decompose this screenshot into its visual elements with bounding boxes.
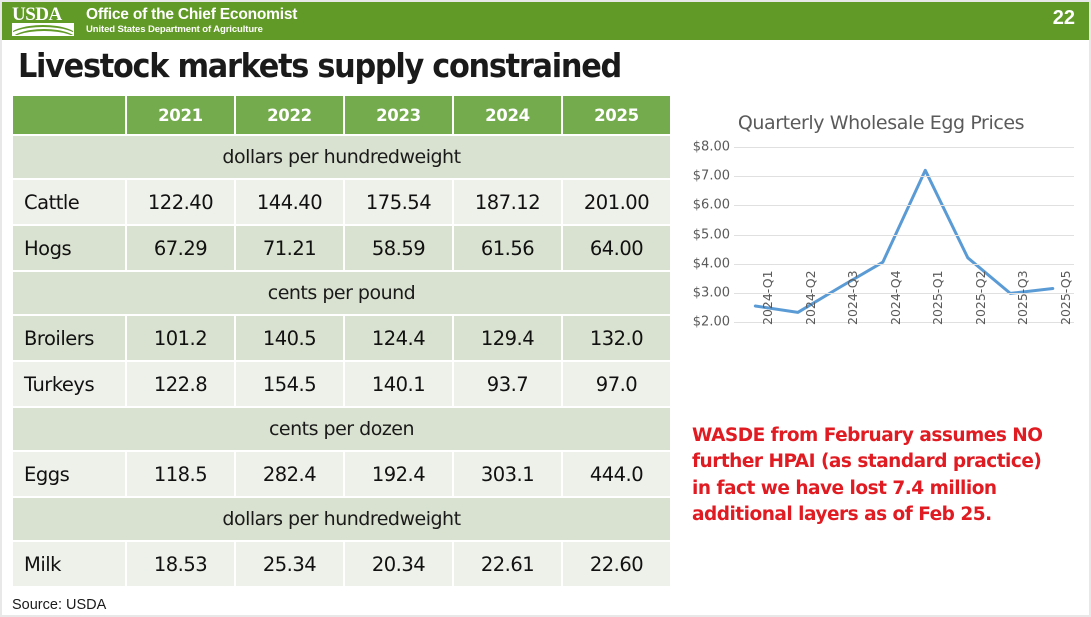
unit-label-dollars-cwt-2: dollars per hundredweight: [13, 498, 670, 540]
cell-broilers-2022: 140.5: [236, 316, 343, 360]
cell-turkeys-2023: 140.1: [345, 362, 452, 406]
y-tick-label: $5.00: [693, 227, 730, 242]
y-tick-label: $8.00: [693, 140, 730, 155]
cell-milk-2025: 22.60: [563, 542, 670, 586]
x-tick-label: 2024-Q2: [803, 270, 818, 325]
y-tick-label: $4.00: [693, 256, 730, 271]
gridline: [734, 205, 1074, 206]
row-label-turkeys: Turkeys: [13, 362, 125, 406]
unit-row: cents per dozen: [13, 408, 670, 450]
cell-milk-2023: 20.34: [345, 542, 452, 586]
chart-title: Quarterly Wholesale Egg Prices: [678, 112, 1084, 134]
y-tick-label: $7.00: [693, 169, 730, 184]
y-axis: $8.00$7.00$6.00$5.00$4.00$3.00$2.00: [678, 147, 734, 322]
cell-broilers-2023: 124.4: [345, 316, 452, 360]
plot-wrapper: $8.00$7.00$6.00$5.00$4.00$3.00$2.00 2024…: [678, 147, 1084, 322]
x-tick-label: 2024-Q3: [845, 270, 860, 325]
gridline: [734, 176, 1074, 177]
column-header-2023: 2023: [345, 96, 452, 134]
banner-text-group: Office of the Chief Economist United Sta…: [86, 7, 297, 34]
cell-milk-2021: 18.53: [127, 542, 234, 586]
cell-hogs-2022: 71.21: [236, 226, 343, 270]
egg-price-chart: Quarterly Wholesale Egg Prices $8.00$7.0…: [678, 102, 1084, 402]
cell-hogs-2021: 67.29: [127, 226, 234, 270]
gridline: [734, 264, 1074, 265]
gridline: [734, 147, 1074, 148]
x-tick-label: 2025-Q2: [973, 270, 988, 325]
cell-hogs-2023: 58.59: [345, 226, 452, 270]
y-tick-label: $6.00: [693, 198, 730, 213]
cell-turkeys-2022: 154.5: [236, 362, 343, 406]
source-note: Source: USDA: [12, 597, 106, 613]
usda-logo-icon: USDA: [10, 4, 82, 38]
y-tick-label: $2.00: [693, 315, 730, 330]
page-title: Livestock markets supply constrained: [18, 46, 621, 85]
table-corner-cell: [13, 96, 125, 134]
cell-broilers-2021: 101.2: [127, 316, 234, 360]
unit-label-cents-dozen: cents per dozen: [13, 408, 670, 450]
table-row: Turkeys 122.8 154.5 140.1 93.7 97.0: [13, 362, 670, 406]
table-header-row: 2021 2022 2023 2024 2025: [13, 96, 670, 134]
banner-subtitle: United States Department of Agriculture: [86, 25, 297, 35]
unit-row: dollars per hundredweight: [13, 136, 670, 178]
page-number: 22: [1053, 7, 1075, 30]
cell-turkeys-2025: 97.0: [563, 362, 670, 406]
x-axis: 2024-Q12024-Q22024-Q32024-Q42025-Q12025-…: [734, 325, 1074, 405]
x-tick-label: 2024-Q4: [888, 270, 903, 325]
column-header-2025: 2025: [563, 96, 670, 134]
cell-eggs-2024: 303.1: [454, 452, 561, 496]
gridline: [734, 235, 1074, 236]
cell-eggs-2021: 118.5: [127, 452, 234, 496]
unit-label-cents-lb: cents per pound: [13, 272, 670, 314]
row-label-eggs: Eggs: [13, 452, 125, 496]
cell-cattle-2022: 144.40: [236, 180, 343, 224]
banner-title: Office of the Chief Economist: [86, 7, 297, 23]
row-label-milk: Milk: [13, 542, 125, 586]
table-row: Eggs 118.5 282.4 192.4 303.1 444.0: [13, 452, 670, 496]
table-row: Cattle 122.40 144.40 175.54 187.12 201.0…: [13, 180, 670, 224]
x-tick-label: 2025-Q1: [930, 270, 945, 325]
table-row: Milk 18.53 25.34 20.34 22.61 22.60: [13, 542, 670, 586]
wasde-annotation: WASDE from February assumes NO further H…: [692, 423, 1062, 528]
cell-cattle-2025: 201.00: [563, 180, 670, 224]
cell-turkeys-2021: 122.8: [127, 362, 234, 406]
column-header-2022: 2022: [236, 96, 343, 134]
x-tick-label: 2025-Q5: [1058, 270, 1073, 325]
unit-row: dollars per hundredweight: [13, 498, 670, 540]
x-tick-label: 2025-Q3: [1015, 270, 1030, 325]
header-banner: USDA Office of the Chief Economist Unite…: [2, 2, 1091, 40]
row-label-hogs: Hogs: [13, 226, 125, 270]
cell-cattle-2024: 187.12: [454, 180, 561, 224]
cell-hogs-2025: 64.00: [563, 226, 670, 270]
table-head: 2021 2022 2023 2024 2025: [13, 96, 670, 134]
series-polyline: [755, 170, 1053, 312]
cell-eggs-2022: 282.4: [236, 452, 343, 496]
cell-eggs-2023: 192.4: [345, 452, 452, 496]
cell-broilers-2024: 129.4: [454, 316, 561, 360]
x-tick-label: 2024-Q1: [760, 270, 775, 325]
table-body: dollars per hundredweight Cattle 122.40 …: [13, 136, 670, 586]
row-label-broilers: Broilers: [13, 316, 125, 360]
column-header-2021: 2021: [127, 96, 234, 134]
cell-eggs-2025: 444.0: [563, 452, 670, 496]
table-row: Hogs 67.29 71.21 58.59 61.56 64.00: [13, 226, 670, 270]
slide-canvas: USDA Office of the Chief Economist Unite…: [0, 0, 1091, 617]
cell-milk-2022: 25.34: [236, 542, 343, 586]
table-row: Broilers 101.2 140.5 124.4 129.4 132.0: [13, 316, 670, 360]
cell-cattle-2021: 122.40: [127, 180, 234, 224]
cell-cattle-2023: 175.54: [345, 180, 452, 224]
unit-label-dollars-cwt-1: dollars per hundredweight: [13, 136, 670, 178]
unit-row: cents per pound: [13, 272, 670, 314]
livestock-price-table: 2021 2022 2023 2024 2025 dollars per hun…: [11, 94, 672, 588]
usda-field-graphic: [12, 23, 74, 36]
cell-broilers-2025: 132.0: [563, 316, 670, 360]
cell-hogs-2024: 61.56: [454, 226, 561, 270]
row-label-cattle: Cattle: [13, 180, 125, 224]
column-header-2024: 2024: [454, 96, 561, 134]
cell-milk-2024: 22.61: [454, 542, 561, 586]
y-tick-label: $3.00: [693, 285, 730, 300]
cell-turkeys-2024: 93.7: [454, 362, 561, 406]
